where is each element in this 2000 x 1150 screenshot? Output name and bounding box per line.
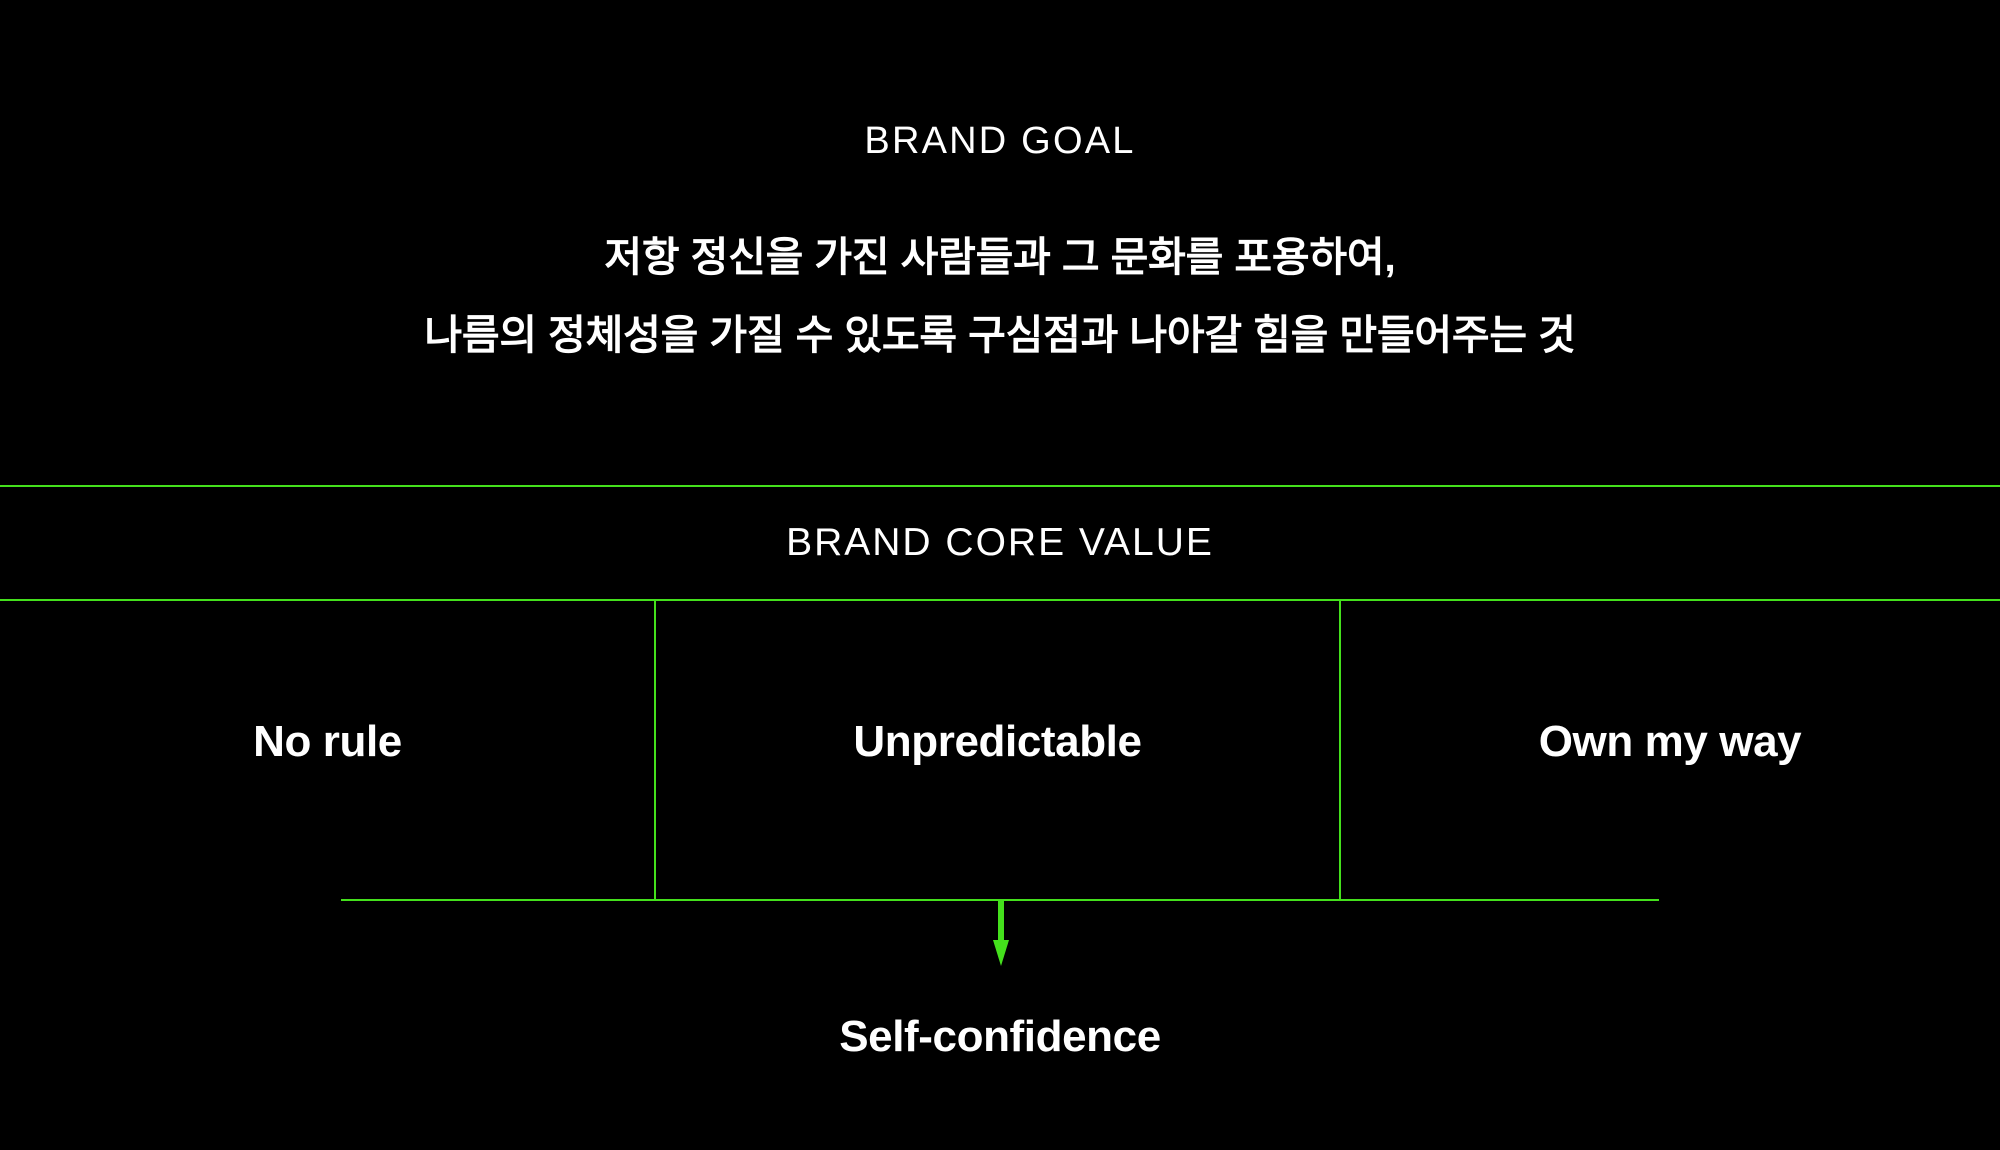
arrow-down-shaft [998, 900, 1004, 944]
arrow-down-icon [993, 900, 1009, 966]
core-value-label-no-rule: No rule [253, 717, 402, 767]
core-value-columns: No rule Unpredictable Own my way [0, 601, 2000, 900]
brand-goal-eyebrow: BRAND GOAL [0, 120, 2000, 163]
brand-goal-statement: 저항 정신을 가진 사람들과 그 문화를 포용하여, 나름의 정체성을 가질 수… [0, 218, 2000, 374]
core-value-column-unpredictable: Unpredictable [655, 601, 1340, 900]
brand-goal-statement-line-2: 나름의 정체성을 가질 수 있도록 구심점과 나아갈 힘을 만들어주는 것 [0, 296, 2000, 374]
brand-goal-section: BRAND GOAL 저항 정신을 가진 사람들과 그 문화를 포용하여, 나름… [0, 0, 2000, 486]
core-value-label-own-my-way: Own my way [1539, 717, 1802, 767]
brand-strategy-slide: BRAND GOAL 저항 정신을 가진 사람들과 그 문화를 포용하여, 나름… [0, 0, 2000, 1150]
brand-core-value-eyebrow: BRAND CORE VALUE [786, 521, 1214, 565]
brand-goal-statement-line-1: 저항 정신을 가진 사람들과 그 문화를 포용하여, [0, 218, 2000, 296]
brand-outcome: Self-confidence [0, 1012, 2000, 1062]
core-value-column-own-my-way: Own my way [1340, 601, 2000, 900]
arrow-down-head [993, 940, 1009, 966]
brand-core-value-header: BRAND CORE VALUE [0, 487, 2000, 599]
core-value-label-unpredictable: Unpredictable [853, 717, 1141, 767]
core-value-column-no-rule: No rule [0, 601, 655, 900]
brand-outcome-label: Self-confidence [839, 1012, 1161, 1061]
